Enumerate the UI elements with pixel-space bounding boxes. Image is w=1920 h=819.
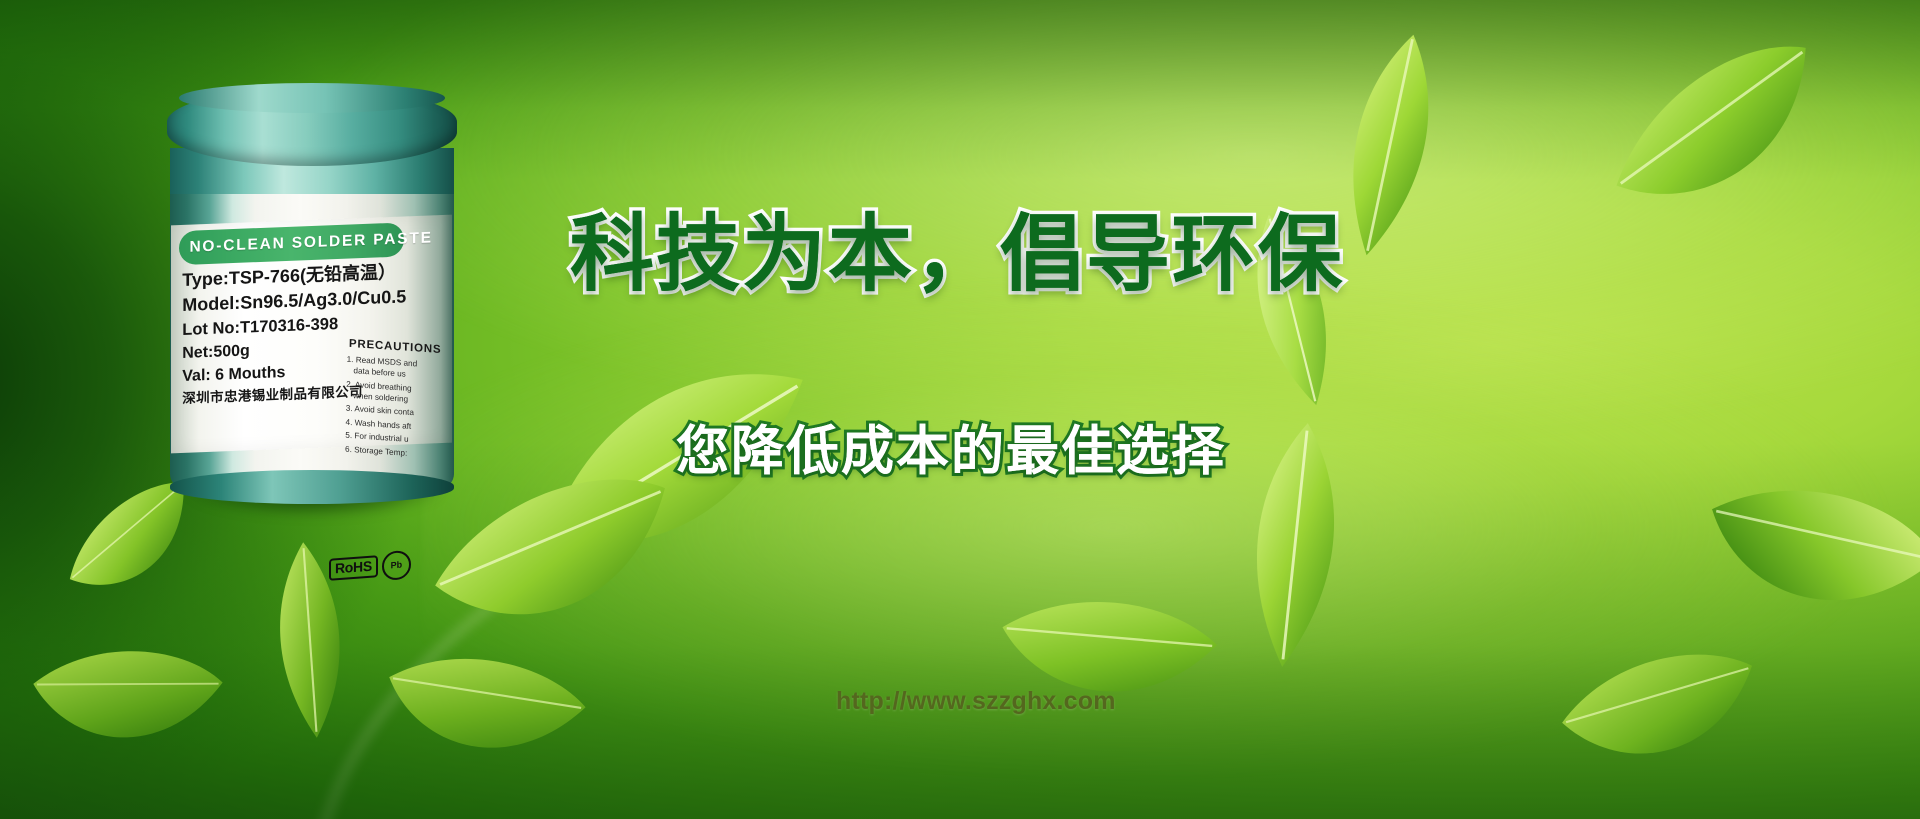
rohs-label: RoHS [329, 556, 378, 581]
precaution-text: 6. Storage Temp: [346, 445, 408, 458]
label-lot-number: Lot No:T170316-398 [183, 312, 447, 339]
website-url[interactable]: http://www.szzghx.com [836, 687, 1116, 716]
precaution-text: 3. Avoid skin conta [346, 404, 414, 418]
rohs-mark: RoHS Pb [329, 547, 415, 587]
label-band-title: NO-CLEAN SOLDER PASTE [180, 229, 433, 257]
precautions-panel: PRECAUTIONS 1. Read MSDS anddata before … [344, 336, 483, 581]
page-subtitle: 您降低成本的最佳选择 [676, 425, 1376, 478]
precaution-text: 5. For industrial u [346, 431, 409, 444]
label-model: Model:Sn96.5/Ag3.0/Cu0.5 [183, 286, 447, 315]
precautions-list: 1. Read MSDS anddata before us 2. Avoid … [346, 354, 483, 464]
jar-lid-top [179, 83, 446, 113]
product-jar: NO-CLEAN SOLDER PASTE Type:TSP-766(无铅高温）… [167, 88, 457, 503]
lead-free-icon: Pb [382, 549, 411, 580]
precaution-text: 4. Wash hands aft [346, 417, 412, 430]
label-type: Type:TSP-766(无铅高温） [183, 261, 447, 290]
promotional-banner: NO-CLEAN SOLDER PASTE Type:TSP-766(无铅高温）… [0, 0, 1920, 819]
page-title: 科技为本，倡导环保 [570, 212, 1360, 296]
label-band: NO-CLEAN SOLDER PASTE [180, 222, 405, 265]
jar-lid [167, 88, 457, 166]
product-label: NO-CLEAN SOLDER PASTE Type:TSP-766(无铅高温）… [171, 215, 452, 454]
